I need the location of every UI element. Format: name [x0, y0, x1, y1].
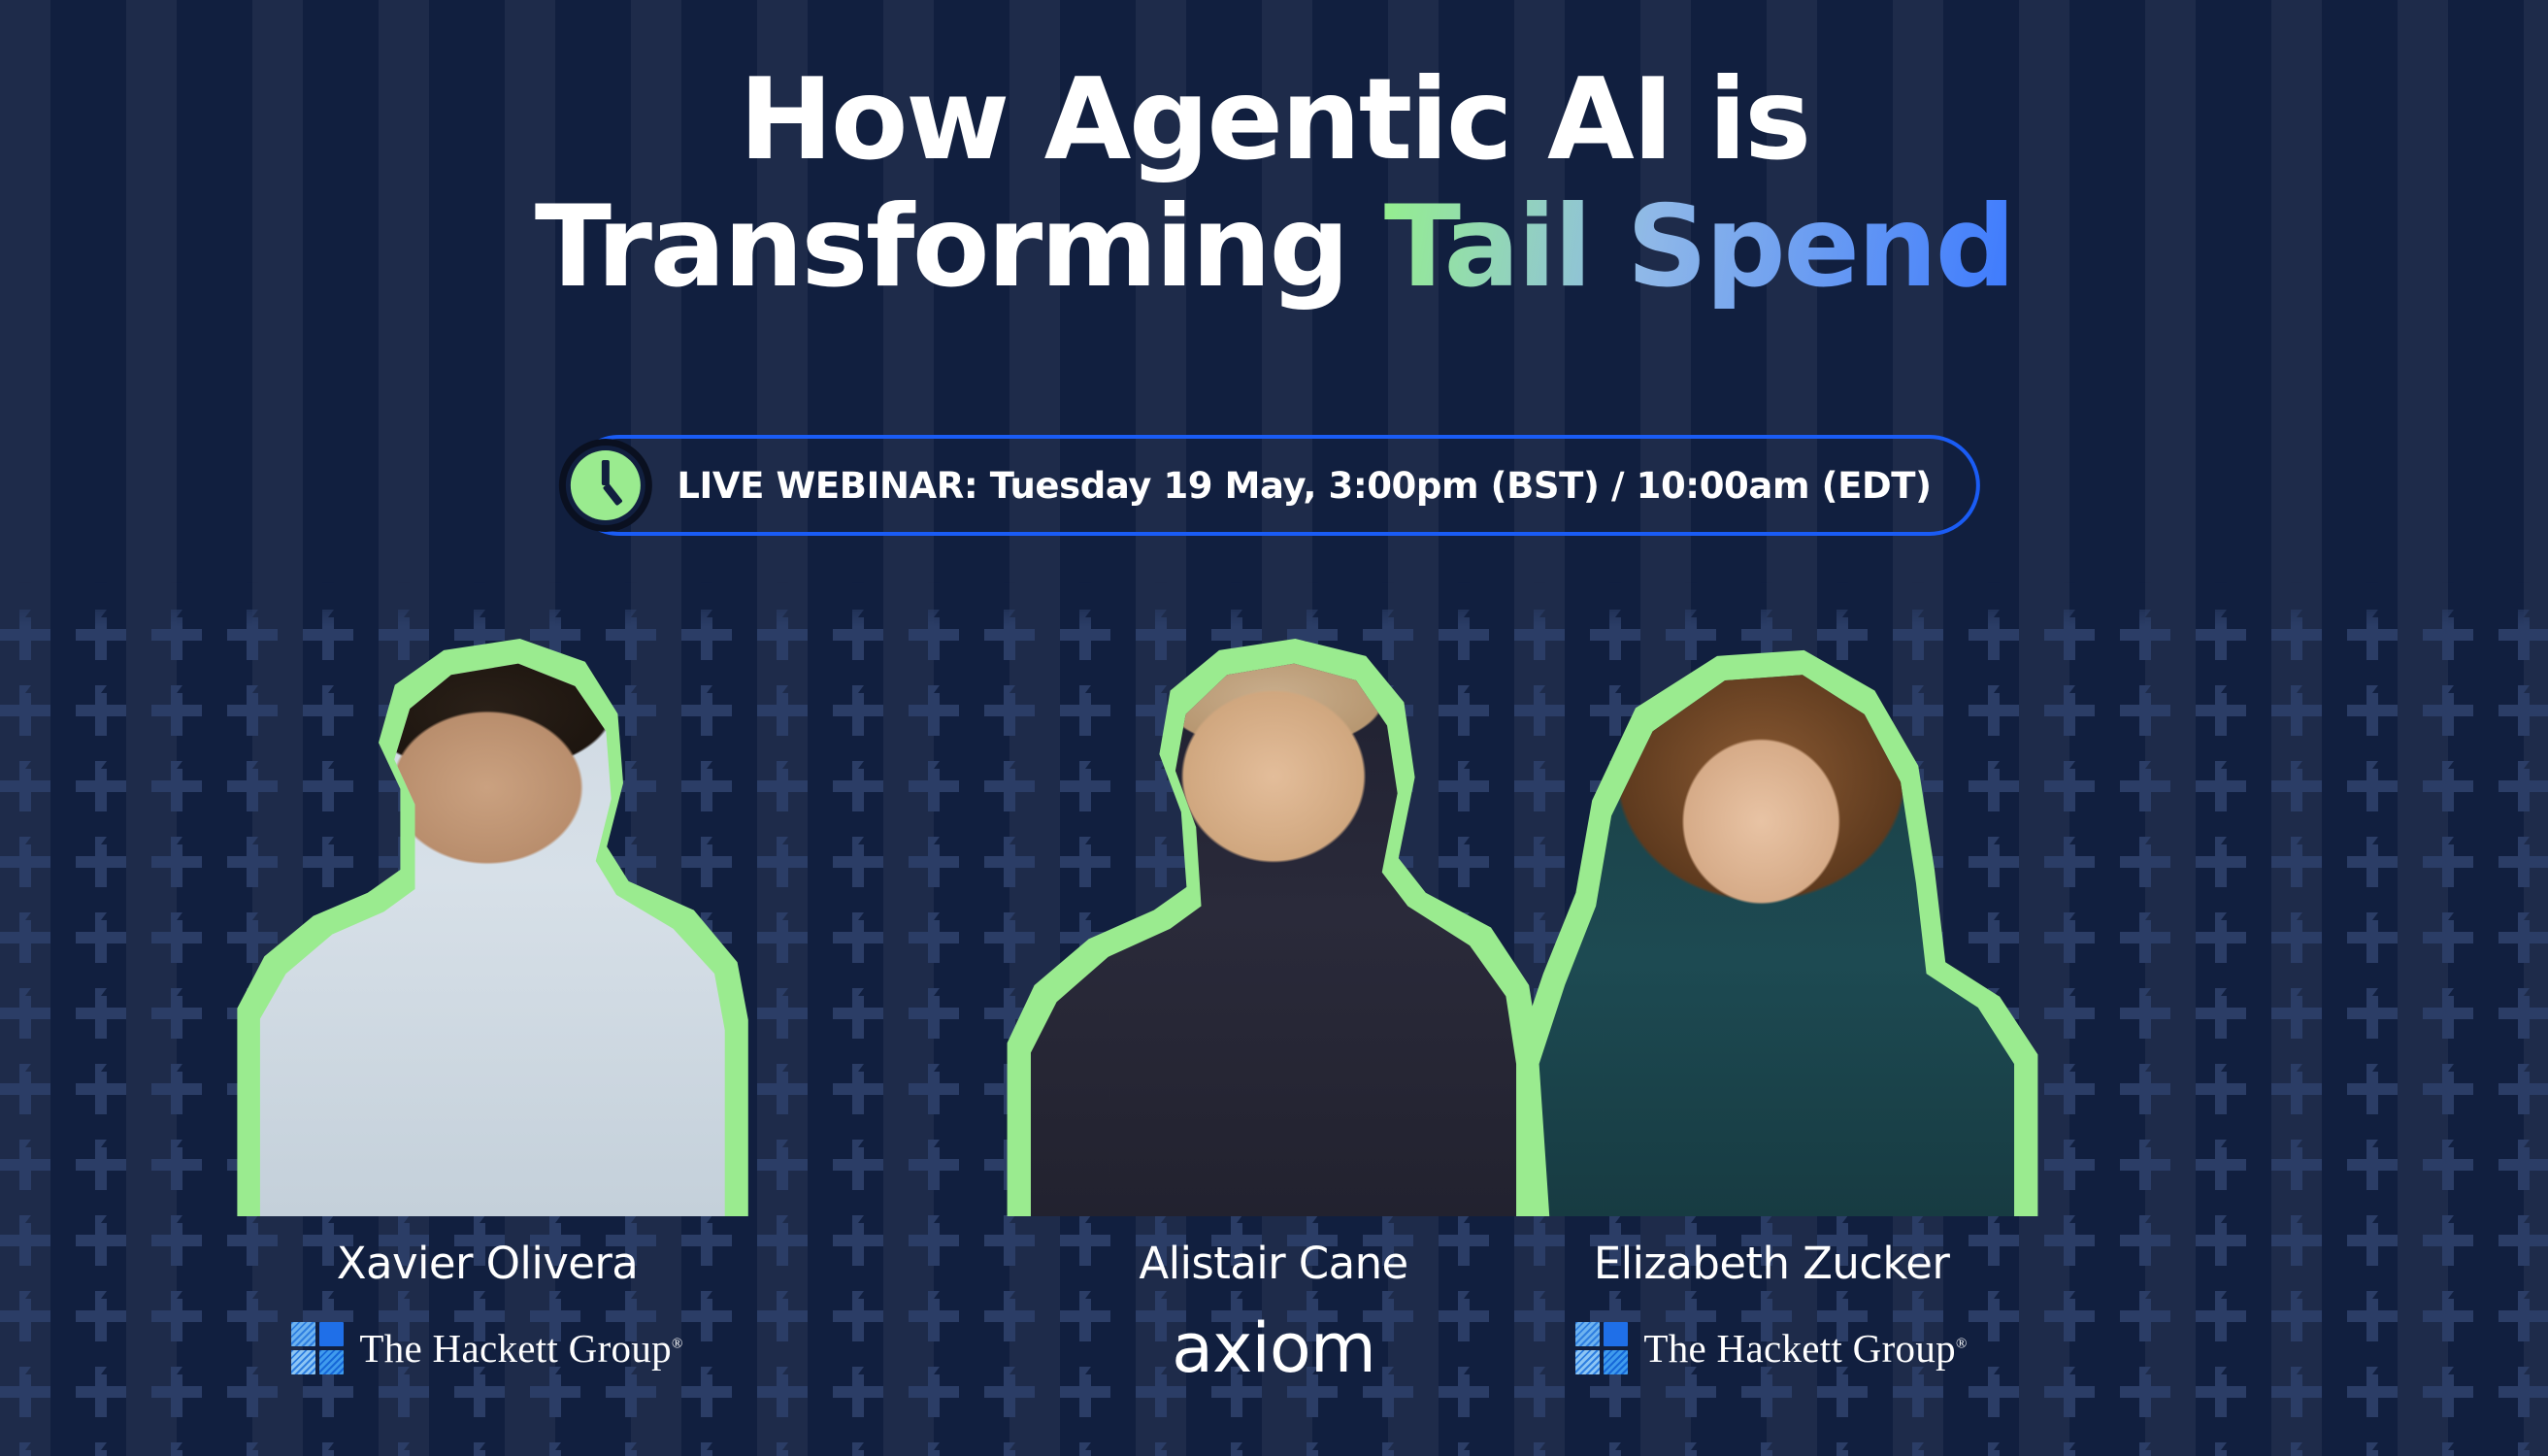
registered-mark-1: ® [672, 1336, 683, 1351]
portrait-image-3 [1513, 652, 2030, 1216]
live-webinar-badge[interactable]: LIVE WEBINAR: Tuesday 19 May, 3:00pm (BS… [568, 435, 1979, 536]
title-highlight-tail-spend: Tail Spend [1384, 182, 2013, 313]
speaker-card-3: Elizabeth Zucker The Hackett Group® [1500, 639, 2043, 1378]
speaker-name-2: Alistair Cane [1139, 1238, 1407, 1289]
hackett-squares-icon [1575, 1322, 1628, 1374]
speaker-photo-3 [1500, 639, 2043, 1216]
speaker-logo-1: The Hackett Group® [291, 1318, 682, 1378]
speaker-row: Xavier Olivera The Hackett Group® Alista… [0, 602, 2548, 1378]
hackett-company-name-1: The Hackett Group [359, 1326, 672, 1371]
clock-dial [570, 450, 640, 520]
axiom-wordmark: axiom [1172, 1314, 1375, 1382]
clock-minute-hand [601, 460, 609, 485]
speaker-card-1: Xavier Olivera The Hackett Group® [215, 639, 759, 1378]
hackett-squares-icon [291, 1322, 344, 1374]
photo-clip-3 [1513, 652, 2030, 1216]
hackett-wordmark-3: The Hackett Group® [1643, 1325, 1967, 1372]
title-line-2-plain: Transforming [535, 182, 1384, 313]
photo-silhouette-2 [1002, 639, 1545, 1216]
title-line-1: How Agentic AI is [0, 56, 2548, 183]
speaker-logo-2: axiom [1172, 1318, 1375, 1378]
speaker-name-1: Xavier Olivera [337, 1238, 638, 1289]
clock-icon [558, 439, 651, 532]
live-webinar-label: LIVE WEBINAR: Tuesday 19 May, 3:00pm (BS… [677, 465, 1931, 507]
registered-mark-3: ® [1956, 1336, 1968, 1351]
speaker-logo-3: The Hackett Group® [1575, 1318, 1967, 1378]
clock-hour-hand [602, 483, 622, 507]
speaker-photo-2 [1002, 639, 1545, 1216]
speaker-photo-1 [215, 639, 759, 1216]
speaker-card-2: Alistair Cane axiom [1002, 639, 1545, 1378]
hackett-company-name-3: The Hackett Group [1643, 1326, 1956, 1371]
photo-silhouette-1 [215, 639, 759, 1216]
title-line-2: Transforming Tail Spend [0, 183, 2548, 311]
speaker-name-3: Elizabeth Zucker [1594, 1238, 1949, 1289]
hackett-wordmark-1: The Hackett Group® [359, 1325, 682, 1372]
page-title: How Agentic AI is Transforming Tail Spen… [0, 56, 2548, 311]
photo-silhouette-3 [1500, 639, 2043, 1216]
